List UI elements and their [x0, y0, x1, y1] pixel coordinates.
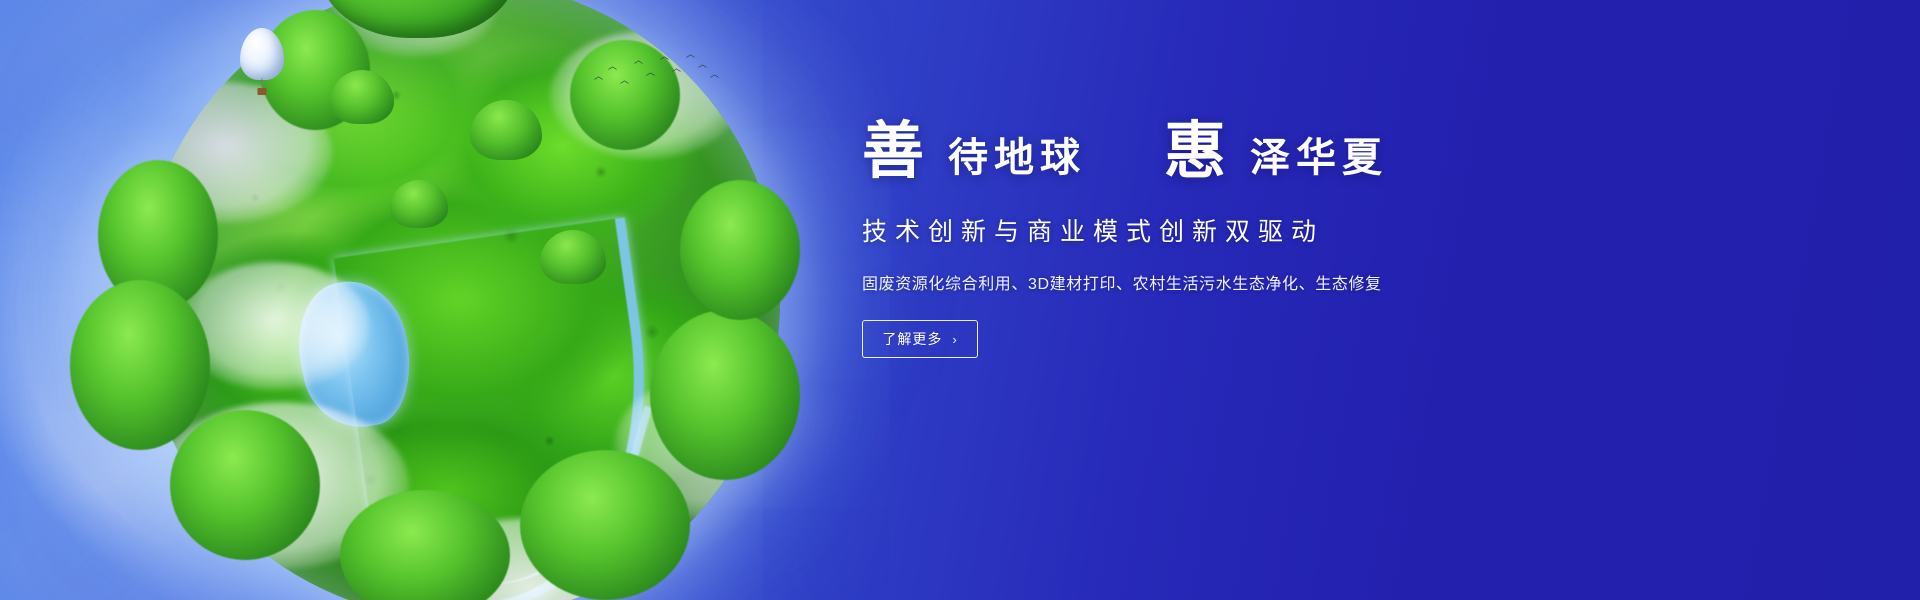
hot-air-balloon-icon	[240, 28, 284, 98]
hero-banner: ︿ ︿ ︿ ︿ ︿ ︿ ︿ ︿ ︿ ︿ 善 待地球 惠 泽华夏 技术创新与商业模…	[0, 0, 1920, 600]
headline-rest-1: 待地球	[948, 138, 1086, 182]
hero-copy-block: 善 待地球 惠 泽华夏 技术创新与商业模式创新双驱动 固废资源化综合利用、3D建…	[862, 120, 1682, 358]
headline-char-2: 惠	[1164, 120, 1228, 182]
balloon-envelope	[240, 28, 284, 80]
foliage-right-lower	[650, 310, 800, 480]
foliage-bottom-left	[170, 410, 320, 560]
learn-more-label: 了解更多	[882, 329, 942, 349]
hero-description: 固废资源化综合利用、3D建材打印、农村生活污水生态净化、生态修复	[862, 270, 1682, 294]
headline-rest-2: 泽华夏	[1250, 138, 1388, 182]
foliage-bottom-right	[520, 450, 690, 600]
headline-char-1: 善	[862, 120, 926, 182]
learn-more-button[interactable]: 了解更多 ›	[862, 320, 978, 358]
hero-subtitle: 技术创新与商业模式创新双驱动	[862, 212, 1682, 248]
foliage-left-lower	[70, 280, 210, 450]
foliage-right-upper	[680, 180, 800, 320]
chevron-right-icon: ›	[952, 332, 957, 347]
bird-flock-icon: ︿ ︿ ︿ ︿ ︿ ︿ ︿ ︿ ︿ ︿	[590, 48, 720, 90]
tiny-planet-image	[140, 0, 780, 600]
headline: 善 待地球 惠 泽华夏	[862, 120, 1682, 182]
balloon-basket	[258, 88, 267, 95]
